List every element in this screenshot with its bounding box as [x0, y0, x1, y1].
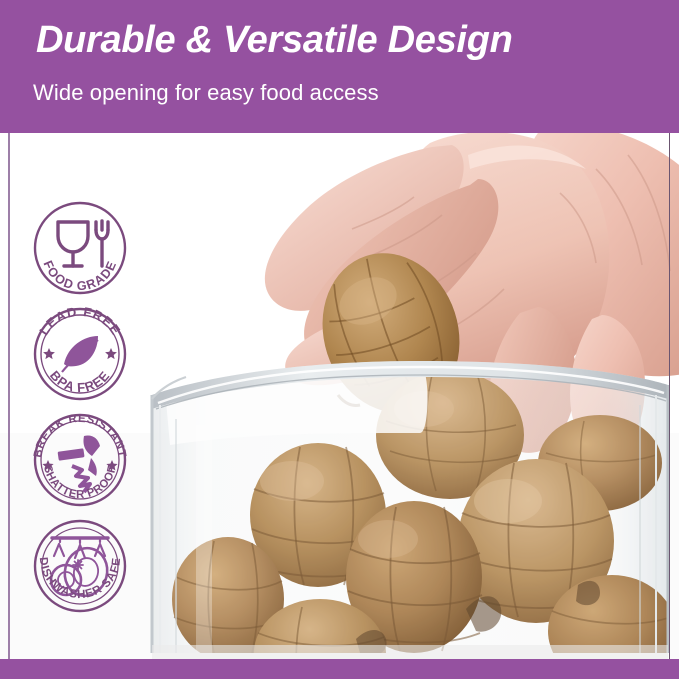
badge-dishwasher-safe: DISHWASHER SAFE [28, 514, 132, 618]
badge-arc-text: FOOD GRADE [41, 258, 120, 293]
badge-lead-free-bpa-free: LEAD FREE BPA FREE [28, 302, 132, 406]
leaf-icon [62, 336, 98, 372]
right-frame-rule [669, 133, 670, 659]
footer-bar [0, 659, 679, 679]
page-title: Durable & Versatile Design [36, 20, 513, 61]
glass-and-fork-icon [58, 221, 108, 266]
badge-arc-text-top: LEAD FREE [36, 304, 124, 338]
certification-badges: FOOD GRADE [28, 196, 140, 620]
badge-arc-text-bottom: BPA FREE [47, 368, 113, 396]
infographic-canvas: FOOD GRADE [0, 0, 679, 679]
hammer-icon [58, 435, 100, 492]
badge-food-grade: FOOD GRADE [28, 196, 132, 300]
left-frame-rule [8, 133, 10, 659]
header-banner: Durable & Versatile Design Wide opening … [0, 0, 679, 133]
badge-break-resistant-shatter-proof: BREAK RESISTANT SHATTER PROOF [28, 408, 132, 512]
page-subtitle: Wide opening for easy food access [33, 80, 379, 106]
clear-storage-container [152, 361, 676, 659]
